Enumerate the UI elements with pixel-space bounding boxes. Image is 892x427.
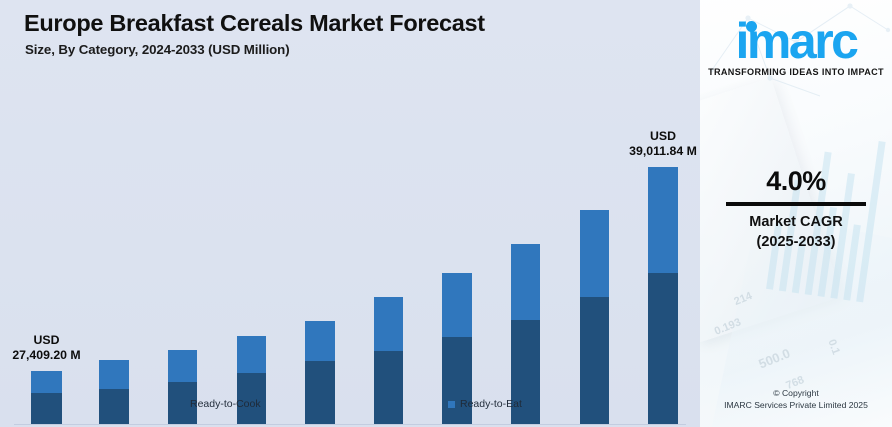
bar-2033[interactable] <box>648 167 678 424</box>
brand-footer: © Copyright IMARC Services Private Limit… <box>700 387 892 411</box>
cagr-period: (2025-2033) <box>700 232 892 253</box>
chart-legend: Ready-to-CookReady-to-Eat <box>0 398 700 418</box>
brand-panel: 500.0 0.193 0.1 214 768 imarc TRANSFORMI… <box>700 0 892 427</box>
segment-ready-to-eat-2030[interactable] <box>442 273 472 337</box>
callout-start-line1: USD <box>0 333 107 348</box>
company-text: IMARC Services Private Limited 2025 <box>700 399 892 411</box>
x-axis-line <box>14 424 686 425</box>
legend-item-ready-to-cook[interactable]: Ready-to-Cook <box>178 398 261 410</box>
logo-wordmark: imarc <box>736 16 857 66</box>
chart-panel: Europe Breakfast Cereals Market Forecast… <box>0 0 700 427</box>
legend-item-ready-to-eat[interactable]: Ready-to-Eat <box>448 398 522 410</box>
segment-ready-to-eat-2029[interactable] <box>374 297 403 351</box>
bar-stack <box>580 210 609 424</box>
bar-2032[interactable] <box>580 210 609 424</box>
segment-ready-to-eat-2026[interactable] <box>168 350 197 382</box>
brand-logo[interactable]: imarc TRANSFORMING IDEAS INTO IMPACT <box>700 16 892 77</box>
legend-swatch-icon <box>178 401 185 408</box>
segment-ready-to-eat-2027[interactable] <box>237 336 266 373</box>
cagr-divider <box>726 202 866 206</box>
segment-ready-to-eat-2033[interactable] <box>648 167 678 273</box>
bar-stack <box>648 167 678 424</box>
infographic-root: Europe Breakfast Cereals Market Forecast… <box>0 0 892 427</box>
cagr-label: Market CAGR <box>700 212 892 232</box>
chart-subtitle: Size, By Category, 2024-2033 (USD Millio… <box>25 42 290 57</box>
legend-swatch-icon <box>448 401 455 408</box>
segment-ready-to-eat-2032[interactable] <box>580 210 609 297</box>
page-title: Europe Breakfast Cereals Market Forecast <box>24 10 485 37</box>
logo-dot-icon <box>746 21 757 32</box>
legend-label: Ready-to-Cook <box>190 398 261 410</box>
cagr-block: 4.0% Market CAGR (2025-2033) <box>700 165 892 253</box>
value-callout-2024: USD 27,409.20 M <box>0 333 107 363</box>
segment-ready-to-eat-2024[interactable] <box>31 371 62 393</box>
callout-start-line2: 27,409.20 M <box>0 348 107 363</box>
legend-label: Ready-to-Eat <box>460 398 522 410</box>
bar-stack <box>511 244 540 424</box>
copyright-text: © Copyright <box>700 387 892 399</box>
segment-ready-to-eat-2028[interactable] <box>305 321 335 361</box>
segment-ready-to-eat-2025[interactable] <box>99 360 129 389</box>
segment-ready-to-eat-2031[interactable] <box>511 244 540 320</box>
bar-2031[interactable] <box>511 244 540 424</box>
plot-area: USD 27,409.20 M USD 39,011.84 M 20242025… <box>0 60 700 365</box>
cagr-value: 4.0% <box>700 165 892 197</box>
